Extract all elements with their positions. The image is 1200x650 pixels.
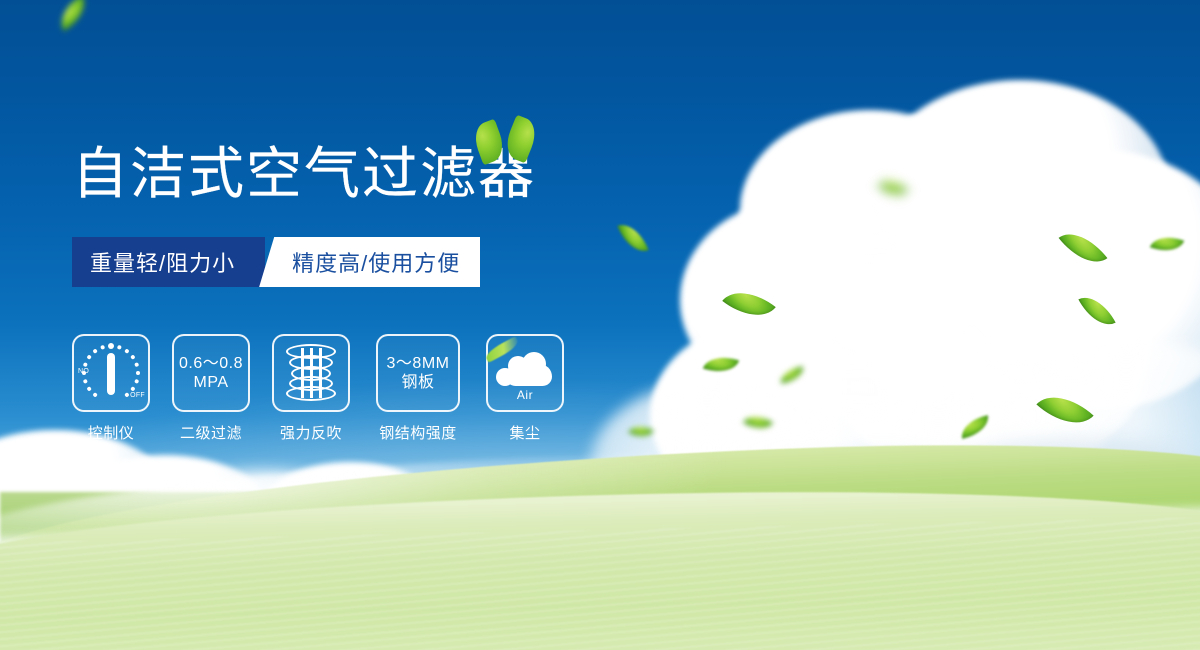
subtitle-right-block: 精度高/使用方便 xyxy=(264,237,480,287)
product-banner: 自洁式空气过滤器 重量轻/阻力小 精度高/使用方便 xyxy=(0,0,1200,650)
feature-label: 集尘 xyxy=(509,422,540,443)
feature-label: 控制仪 xyxy=(88,422,135,443)
gauge-dial: NO OFF xyxy=(80,342,142,404)
feature-item-dust[interactable]: Air 集尘 xyxy=(486,334,564,443)
meadow-texture xyxy=(0,516,1200,650)
feature-item-controller[interactable]: NO OFF 控制仪 xyxy=(72,334,150,443)
cloud-shape: Air xyxy=(496,348,554,398)
steel-line-2: 钢板 xyxy=(387,373,450,392)
pressure-text-icon: 0.6～0.8 MPA xyxy=(172,334,250,412)
feature-item-blowback[interactable]: 强力反吹 xyxy=(272,334,350,443)
subtitle-bar: 重量轻/阻力小 精度高/使用方便 xyxy=(72,237,480,287)
feature-label: 强力反吹 xyxy=(280,422,342,443)
cloud-air-icon: Air xyxy=(486,334,564,412)
feature-item-pressure[interactable]: 0.6～0.8 MPA 二级过滤 xyxy=(172,334,250,443)
subtitle-right-text: 精度高/使用方便 xyxy=(292,246,460,278)
feature-list: NO OFF 控制仪 0.6～0.8 MPA 二级过滤 xyxy=(72,334,564,443)
subtitle-left-text: 重量轻/阻力小 xyxy=(90,246,235,278)
feature-item-steel[interactable]: 3～8MM 钢板 钢结构强度 xyxy=(372,334,464,443)
pressure-line-1: 0.6～0.8 xyxy=(179,354,243,373)
gauge-icon: NO OFF xyxy=(72,334,150,412)
feature-label: 二级过滤 xyxy=(180,422,242,443)
pressure-line-2: MPA xyxy=(179,373,243,392)
steel-plate-text-icon: 3～8MM 钢板 xyxy=(376,334,460,412)
gauge-label-off: OFF xyxy=(130,392,145,399)
banner-title: 自洁式空气过滤器 xyxy=(72,146,536,202)
subtitle-left-block: 重量轻/阻力小 xyxy=(72,237,265,287)
air-text: Air xyxy=(496,388,554,402)
gauge-label-no: NO xyxy=(78,368,89,375)
filter-cartridge xyxy=(283,344,339,402)
gauge-needle xyxy=(107,353,115,395)
steel-line-1: 3～8MM xyxy=(387,354,450,373)
filter-stack-icon xyxy=(272,334,350,412)
feature-label: 钢结构强度 xyxy=(379,422,457,443)
